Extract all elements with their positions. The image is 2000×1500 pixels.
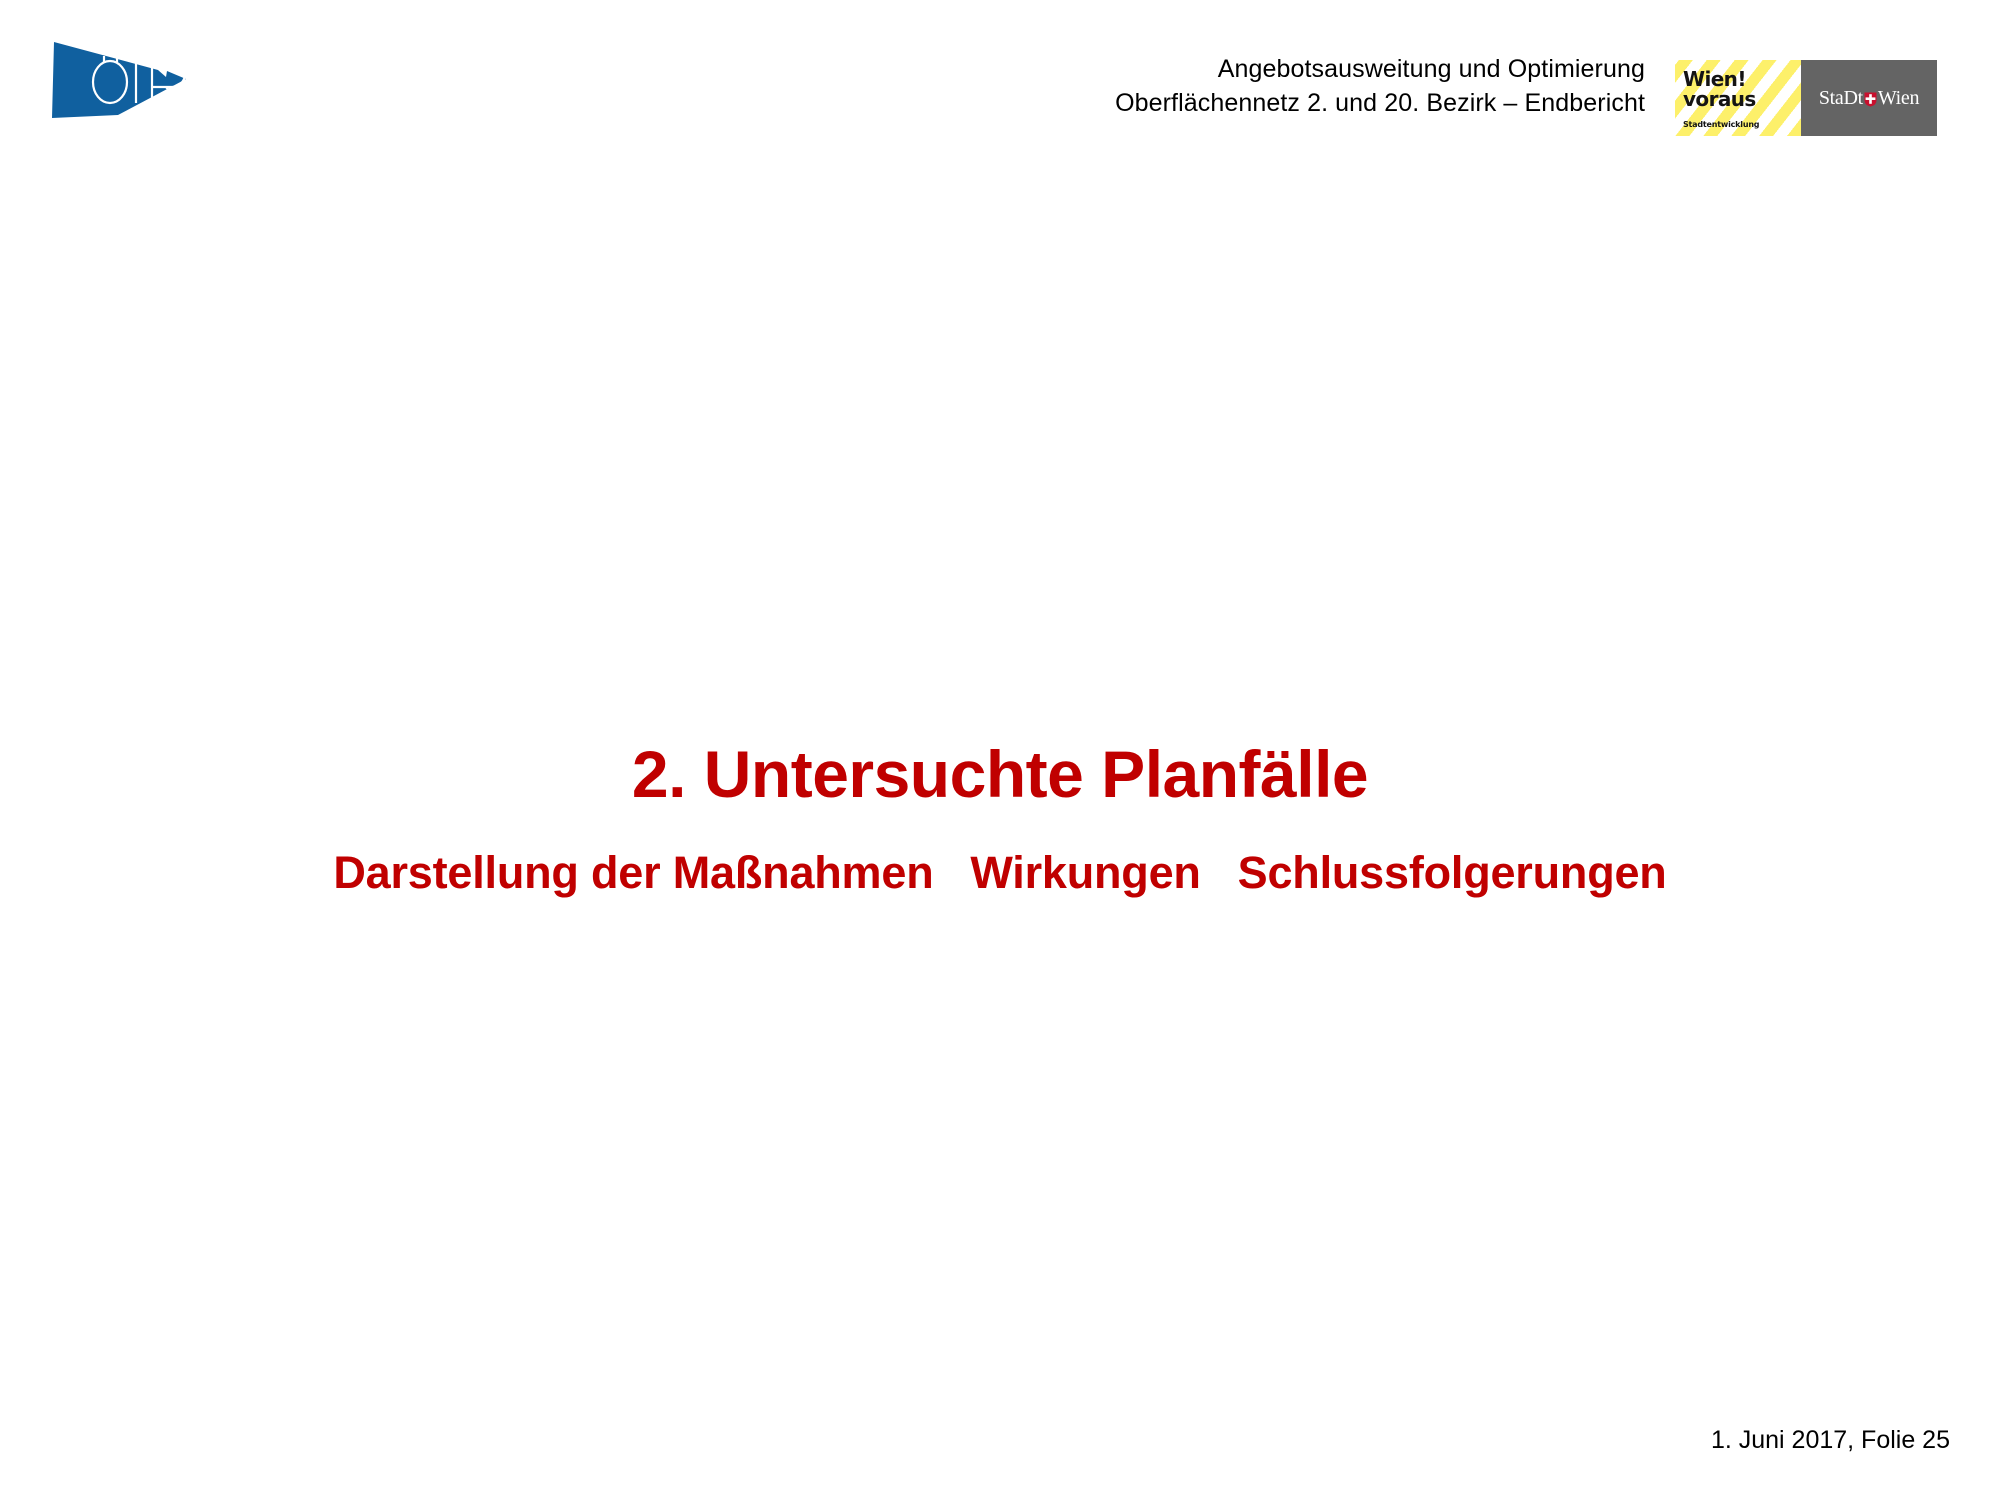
footer-slide-info: 1. Juni 2017, Folie 25 (1711, 1425, 1950, 1455)
partner-logos: Wien! voraus Stadtentwicklung StaDt Wien (1675, 60, 1937, 136)
page-title: 2. Untersuchte Planfälle (0, 734, 2000, 814)
stadt-wien-wordmark: StaDt Wien (1819, 88, 1919, 108)
wien-voraus-logo: Wien! voraus Stadtentwicklung (1675, 60, 1801, 136)
subtitle-gap-1 (933, 847, 970, 898)
wien-voraus-subline: Stadtentwicklung (1683, 120, 1759, 129)
subtitle-part-wirkungen: Wirkungen (970, 847, 1200, 898)
wien-voraus-wordmark: Wien! voraus (1683, 69, 1756, 109)
stadt-wien-text-left: StaDt (1819, 88, 1863, 108)
stadt-wien-text-right: Wien (1878, 88, 1919, 108)
wien-voraus-line2: voraus (1683, 89, 1756, 109)
subtitle-part-massnahmen: Darstellung der Maßnahmen (333, 847, 933, 898)
wien-voraus-line1: Wien! (1683, 69, 1756, 89)
subtitle-gap-2 (1201, 847, 1238, 898)
header-title: Angebotsausweitung und Optimierung Oberf… (885, 52, 1645, 120)
wien-shield-icon (1864, 92, 1877, 107)
oir-logo (40, 30, 220, 125)
subtitle-part-schlussfolgerungen: Schlussfolgerungen (1238, 847, 1667, 898)
stadt-wien-logo: StaDt Wien (1801, 60, 1937, 136)
page-subtitle: Darstellung der Maßnahmen Wirkungen Schl… (0, 845, 2000, 901)
header-title-line2: Oberflächennetz 2. und 20. Bezirk – Endb… (885, 86, 1645, 120)
oir-flag-shape (52, 42, 186, 118)
header-title-line1: Angebotsausweitung und Optimierung (885, 52, 1645, 86)
slide-canvas: Angebotsausweitung und Optimierung Oberf… (0, 0, 2000, 1500)
